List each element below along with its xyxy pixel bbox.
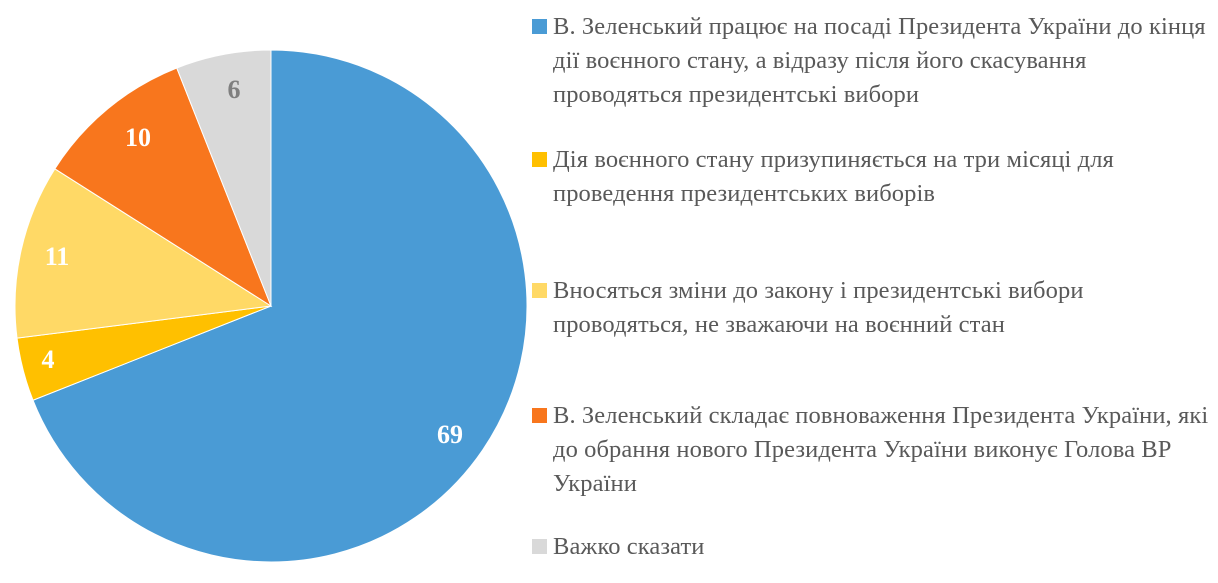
legend-item-label: В. Зеленський складає повноваження Прези… [553, 399, 1214, 501]
legend-item[interactable]: Важко сказати [532, 530, 1214, 564]
pie-slice-value-label: 4 [42, 345, 55, 374]
legend-item[interactable]: Вносяться зміни до закону і президентськ… [532, 274, 1214, 342]
legend-item-label: Вносяться зміни до закону і президентськ… [553, 274, 1214, 342]
pie-chart-figure: 69411106 В. Зеленський працює на посаді … [0, 0, 1218, 583]
pie-slice-value-label: 11 [45, 242, 70, 271]
chart-legend: В. Зеленський працює на посаді Президент… [528, 0, 1218, 583]
legend-color-swatch-icon [532, 408, 547, 423]
pie-plot-area: 69411106 [0, 0, 528, 583]
legend-item-label: В. Зеленський працює на посаді Президент… [553, 10, 1214, 112]
legend-color-swatch-icon [532, 19, 547, 34]
legend-item[interactable]: В. Зеленський працює на посаді Президент… [532, 10, 1214, 112]
legend-color-swatch-icon [532, 539, 547, 554]
pie-slice-value-label: 6 [228, 75, 241, 104]
pie-slice-value-label: 10 [125, 123, 151, 152]
pie-svg: 69411106 [0, 0, 528, 583]
pie-slices-group [15, 50, 527, 562]
legend-item-label: Дія воєнного стану призупиняється на три… [553, 143, 1214, 211]
legend-item-label: Важко сказати [553, 530, 705, 564]
legend-item[interactable]: В. Зеленський складає повноваження Прези… [532, 399, 1214, 501]
legend-color-swatch-icon [532, 152, 547, 167]
legend-item[interactable]: Дія воєнного стану призупиняється на три… [532, 143, 1214, 211]
legend-color-swatch-icon [532, 283, 547, 298]
pie-slice-value-label: 69 [437, 420, 463, 449]
